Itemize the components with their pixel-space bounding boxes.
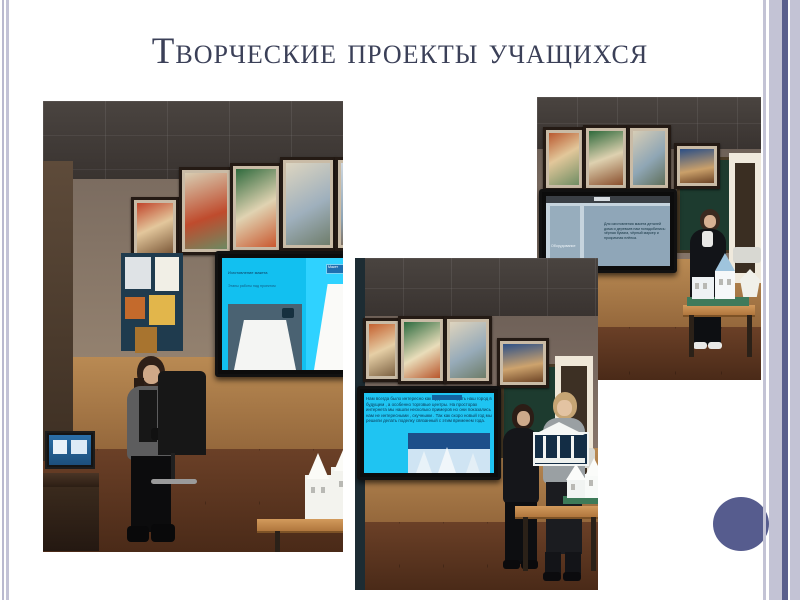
- slide-body-text: Нам всегда было интересно как будет выгл…: [366, 396, 494, 424]
- slide-image-tree: [466, 453, 480, 473]
- person-face: [704, 215, 716, 228]
- model-window: [311, 487, 315, 493]
- left-stripe-border: [0, 0, 12, 600]
- table-leg: [747, 315, 752, 357]
- model-roof: [585, 458, 598, 476]
- model-roof: [566, 464, 586, 480]
- slide-right-label: Макет: [328, 265, 343, 270]
- slide-sidebar: [550, 206, 580, 266]
- poster: [149, 295, 175, 325]
- art-frame: [543, 127, 585, 191]
- art-canvas: [137, 203, 173, 253]
- model-gazebo-roof: [533, 422, 585, 435]
- model-post: [571, 436, 574, 460]
- computer-desk: [43, 473, 99, 487]
- table-leg: [275, 531, 280, 552]
- model-window: [571, 484, 575, 490]
- slide-image-tree: [438, 447, 456, 473]
- right-stripe-1: [763, 0, 766, 600]
- model-roof: [334, 443, 343, 471]
- person-legs: [545, 552, 561, 574]
- ceiling-tiles: [355, 258, 598, 316]
- person-legs: [131, 456, 171, 532]
- art-canvas: [286, 163, 330, 245]
- slide-photo-object: [282, 308, 294, 318]
- slide-sidebar-label: Оборудование: [551, 244, 579, 249]
- art-frame: [179, 167, 233, 255]
- slide-image-tree: [416, 451, 432, 473]
- model-gazebo-floor: [533, 458, 585, 463]
- display-screen: Нам всегда было интересно как будет выгл…: [364, 393, 494, 473]
- display-screen: Оборудование Для изготовления макета дет…: [546, 196, 670, 266]
- model-wing: [567, 478, 585, 498]
- monitor-window: [53, 440, 67, 454]
- right-stripe-5: [790, 0, 800, 600]
- model-window: [719, 279, 723, 285]
- art-frame: [627, 125, 671, 191]
- art-frame: [230, 163, 282, 253]
- slide-left-text: Этапы работы над проектом: [228, 284, 298, 289]
- model-window: [321, 487, 325, 493]
- right-stripe-2: [769, 0, 782, 600]
- art-frame: [131, 197, 179, 259]
- art-canvas: [341, 163, 343, 245]
- model-window: [695, 283, 699, 289]
- poster: [135, 327, 157, 353]
- slide-body-text: Для изготовления макета деталей дома и д…: [604, 222, 666, 240]
- chair-base: [151, 479, 197, 484]
- art-canvas: [633, 131, 665, 185]
- art-canvas: [503, 344, 543, 382]
- slide-image: [408, 433, 490, 473]
- model-tower: [331, 467, 343, 519]
- interactive-display: Нам всегда было интересно как будет выгл…: [357, 386, 501, 480]
- right-stripe-border: [755, 0, 800, 600]
- model-post: [557, 436, 560, 460]
- art-frame: [335, 157, 343, 251]
- office-chair: [158, 371, 206, 455]
- chair-post: [171, 453, 175, 481]
- poster: [155, 257, 179, 291]
- slide-heading: Изготовление макета: [228, 270, 298, 275]
- art-canvas: [236, 169, 276, 247]
- model-tower: [305, 475, 331, 519]
- slide-photo-sheet: [234, 320, 296, 370]
- model-building: [565, 466, 598, 498]
- person-face: [517, 411, 530, 426]
- table-leg: [591, 517, 596, 571]
- presentation-slide: Творческие проекты учащихся: [0, 0, 800, 600]
- left-stripe-2: [6, 0, 9, 600]
- table-leg: [689, 315, 694, 357]
- model-window: [727, 279, 731, 285]
- person-shoe: [693, 342, 707, 349]
- model-window: [589, 480, 593, 486]
- person-collar: [702, 231, 713, 247]
- art-frame: [674, 143, 720, 189]
- toolbar-button: [594, 197, 610, 201]
- art-frame: [280, 157, 336, 251]
- photo-left: Изготовление макета Этапы работы над про…: [43, 101, 343, 552]
- table-leg: [523, 517, 528, 571]
- art-canvas: [404, 322, 440, 378]
- interactive-display: Изготовление макета Этапы работы над про…: [215, 251, 343, 377]
- model-roof: [715, 253, 735, 271]
- model-building: [690, 267, 748, 299]
- model-building: [301, 457, 343, 519]
- person-face: [557, 400, 572, 416]
- side-wall: [43, 161, 73, 461]
- model-gazebo: [533, 422, 585, 466]
- poster: [125, 297, 145, 319]
- display-screen: Изготовление макета Этапы работы над про…: [222, 258, 343, 370]
- art-canvas: [185, 173, 227, 249]
- model-post: [543, 436, 546, 460]
- monitor: [45, 431, 95, 469]
- person-legs: [565, 552, 581, 574]
- photo-center: Нам всегда было интересно как будет выгл…: [355, 258, 598, 590]
- person-shoe: [127, 526, 149, 542]
- poster: [125, 257, 151, 289]
- art-frame: [398, 316, 446, 384]
- ceiling: [355, 258, 598, 316]
- art-canvas: [680, 149, 714, 183]
- person-shoe: [563, 572, 581, 581]
- model-main: [715, 271, 735, 299]
- art-canvas: [369, 324, 395, 376]
- desk-body: [43, 487, 99, 551]
- monitor-screen: [49, 435, 91, 465]
- art-canvas: [589, 131, 623, 185]
- art-frame: [363, 318, 401, 382]
- art-frame: [444, 316, 492, 384]
- monitor-window: [71, 440, 87, 454]
- model-window: [703, 283, 707, 289]
- art-frame: [583, 125, 629, 191]
- sink: [733, 247, 761, 263]
- slide-title: Творческие проекты учащихся: [0, 30, 800, 73]
- left-stripe-1: [2, 0, 4, 600]
- display-table: [257, 519, 343, 533]
- model-main: [585, 474, 598, 498]
- art-canvas: [450, 322, 486, 378]
- person-shoe: [543, 572, 561, 581]
- art-canvas: [549, 133, 579, 185]
- person-shoe: [151, 524, 175, 542]
- slide-toolbar-chip: [432, 395, 462, 400]
- person-shoe: [503, 560, 520, 569]
- art-frame: [497, 338, 549, 388]
- model-roof: [307, 453, 329, 479]
- model-window: [339, 481, 343, 487]
- person-shoe: [708, 342, 722, 349]
